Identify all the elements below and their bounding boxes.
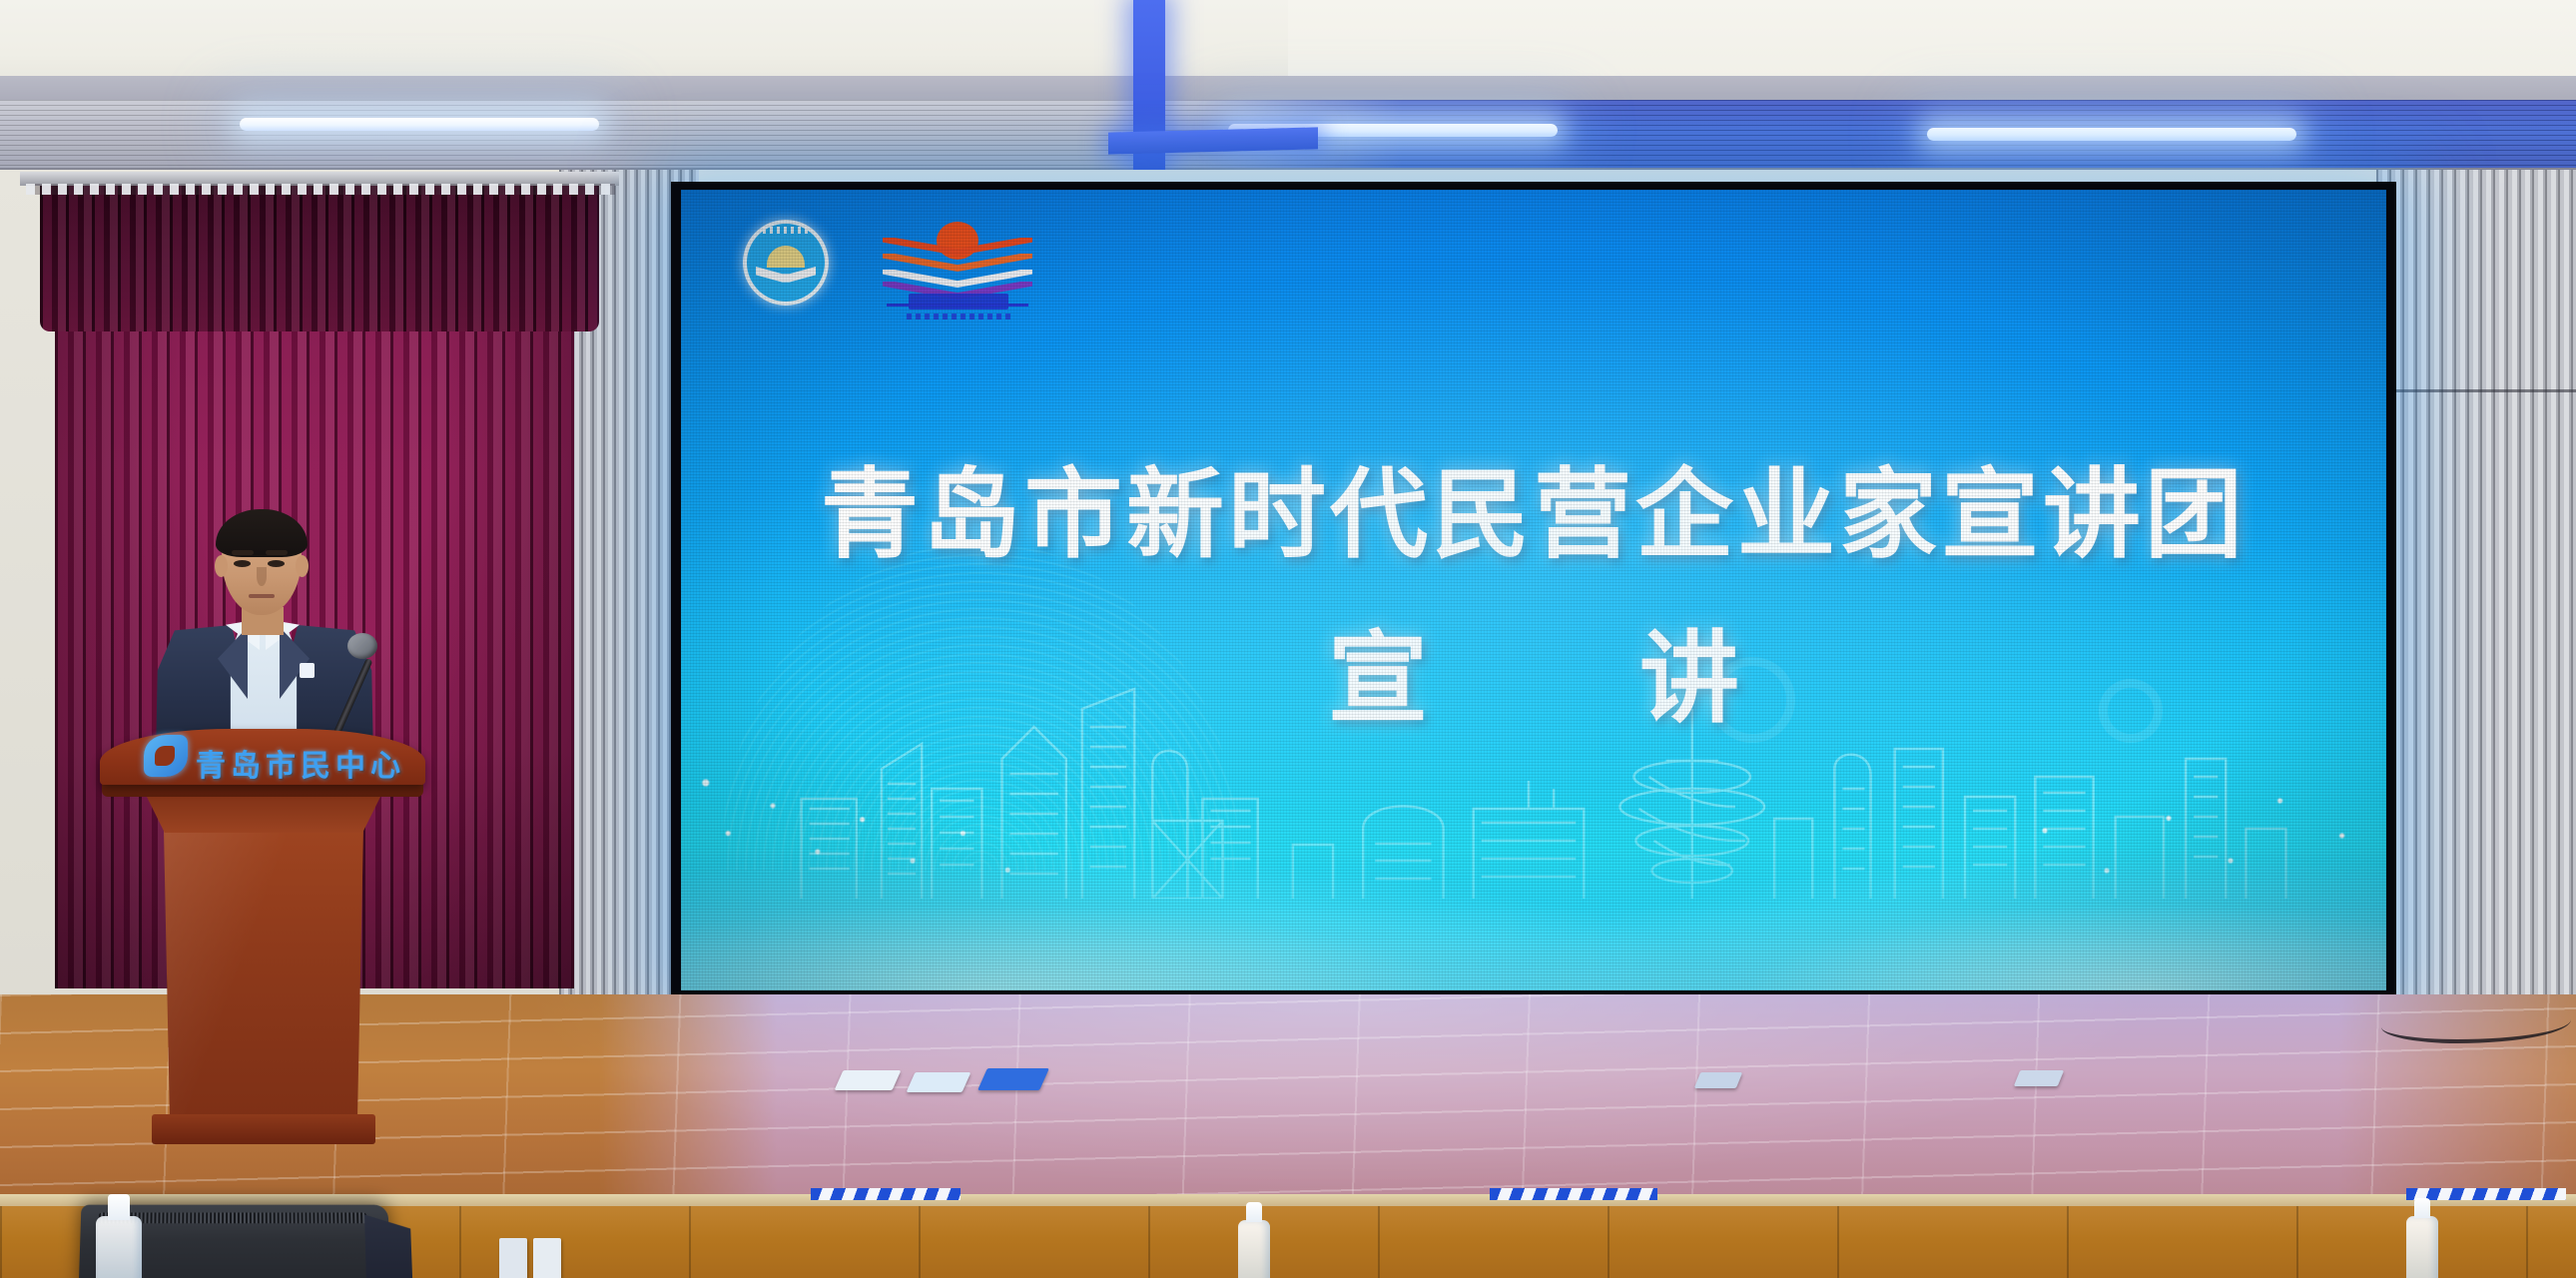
nose xyxy=(257,567,267,586)
water-bottle xyxy=(2406,1216,2438,1278)
water-bottle xyxy=(96,1216,142,1278)
led-screen-title: 青岛市新时代民营企业家宣讲团 xyxy=(681,435,2386,577)
ceiling-light-strip xyxy=(240,118,599,131)
paper-on-floor xyxy=(907,1072,971,1092)
podium: 青岛市民中心 xyxy=(118,729,407,1148)
ceiling-surface-right xyxy=(1288,0,2576,84)
podium-body xyxy=(164,829,363,1118)
qingdao-citizen-center-logo xyxy=(144,735,188,777)
eye-right xyxy=(268,560,285,567)
logo-chinese-text xyxy=(909,294,1008,310)
led-logo-group xyxy=(743,220,1032,327)
microphone-icon xyxy=(347,633,377,659)
logo-underline xyxy=(887,304,1028,307)
acoustic-slat-wall-right xyxy=(2376,170,2576,1004)
eyebrow-left xyxy=(232,550,254,555)
emblem-ticks xyxy=(763,227,809,234)
paper-on-floor xyxy=(2014,1070,2064,1086)
eye-left xyxy=(234,560,251,567)
card-on-stage-front xyxy=(533,1238,561,1278)
led-screen-frame: 青岛市新时代民营企业家宣讲团 宣 讲 xyxy=(671,182,2396,998)
podium-base xyxy=(152,1114,375,1144)
ceiling-blue-wash xyxy=(1178,100,2576,178)
logo-english-text xyxy=(907,314,1010,319)
led-screen[interactable]: 青岛市新时代民营企业家宣讲团 宣 讲 xyxy=(681,190,2386,990)
led-screen-subtitle: 宣 讲 xyxy=(681,597,2386,742)
curtain-hooks xyxy=(26,184,615,195)
stage-curtain-valance xyxy=(40,182,599,331)
ear-left xyxy=(215,555,228,577)
speaker-person xyxy=(150,499,379,759)
booklet-on-floor xyxy=(977,1068,1049,1090)
hazard-tape-marker xyxy=(2406,1188,2566,1200)
mouth xyxy=(249,594,275,598)
card-on-stage-front xyxy=(499,1238,527,1278)
paper-on-floor xyxy=(1694,1072,1742,1088)
ceiling-light-strip xyxy=(1927,128,2296,141)
water-bottle xyxy=(1238,1220,1270,1278)
podium-neck xyxy=(146,795,381,833)
eyebrow-right xyxy=(266,550,288,555)
education-emblem-logo xyxy=(743,220,829,306)
hazard-tape-marker xyxy=(811,1188,961,1200)
chevron-sunrise-logo xyxy=(883,220,1032,327)
slat-wall-seam xyxy=(2376,389,2576,392)
paper-on-floor xyxy=(835,1070,902,1090)
ear-right xyxy=(296,555,309,577)
hair xyxy=(216,509,308,557)
lapel-badge xyxy=(300,663,315,678)
hazard-tape-marker xyxy=(1490,1188,1657,1200)
auditorium-scene: 青岛市新时代民营企业家宣讲团 宣 讲 xyxy=(0,0,2576,1278)
